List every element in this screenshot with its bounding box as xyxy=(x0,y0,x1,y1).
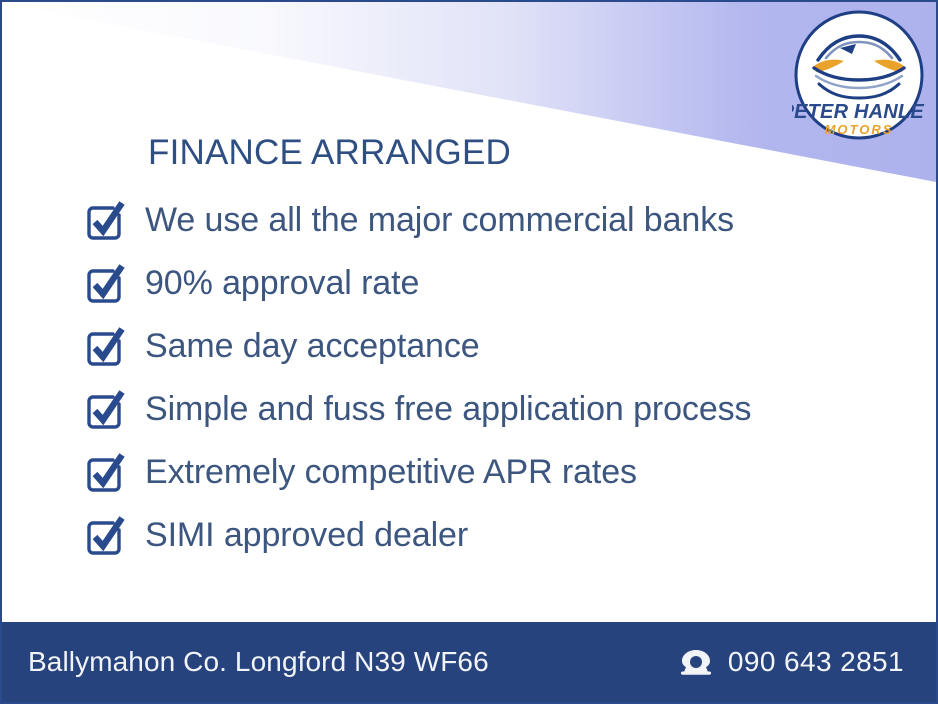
telephone-icon xyxy=(678,647,714,677)
footer-bar: Ballymahon Co. Longford N39 WF66 090 643… xyxy=(2,622,936,702)
list-item: We use all the major commercial banks xyxy=(82,188,882,251)
checkbox-checked-icon xyxy=(82,385,130,433)
list-item-label: We use all the major commercial banks xyxy=(145,203,734,237)
footer-phone-number: 090 643 2851 xyxy=(728,646,904,678)
page-title: FINANCE ARRANGED xyxy=(148,133,511,173)
footer-address: Ballymahon Co. Longford N39 WF66 xyxy=(28,646,489,678)
logo-name-line1: PETER HANLEY xyxy=(792,101,926,123)
footer-phone-block[interactable]: 090 643 2851 xyxy=(678,646,904,678)
checkbox-checked-icon xyxy=(82,259,130,307)
checkbox-checked-icon xyxy=(82,448,130,496)
checkbox-checked-icon xyxy=(82,322,130,370)
logo-name-line2: MOTORS xyxy=(825,122,894,137)
list-item-label: Same day acceptance xyxy=(145,329,480,363)
advert-banner: PETER HANLEY MOTORS FINANCE ARRANGED We … xyxy=(0,0,938,704)
list-item: Extremely competitive APR rates xyxy=(82,440,882,503)
list-item: Same day acceptance xyxy=(82,314,882,377)
list-item: Simple and fuss free application process xyxy=(82,377,882,440)
list-item-label: 90% approval rate xyxy=(145,266,419,300)
list-item: SIMI approved dealer xyxy=(82,503,882,566)
list-item: 90% approval rate xyxy=(82,251,882,314)
list-item-label: Extremely competitive APR rates xyxy=(145,455,637,489)
brand-logo[interactable]: PETER HANLEY MOTORS xyxy=(792,8,926,142)
feature-list: We use all the major commercial banks 90… xyxy=(82,188,882,566)
list-item-label: Simple and fuss free application process xyxy=(145,392,751,426)
checkbox-checked-icon xyxy=(82,511,130,559)
checkbox-checked-icon xyxy=(82,196,130,244)
list-item-label: SIMI approved dealer xyxy=(145,518,468,552)
